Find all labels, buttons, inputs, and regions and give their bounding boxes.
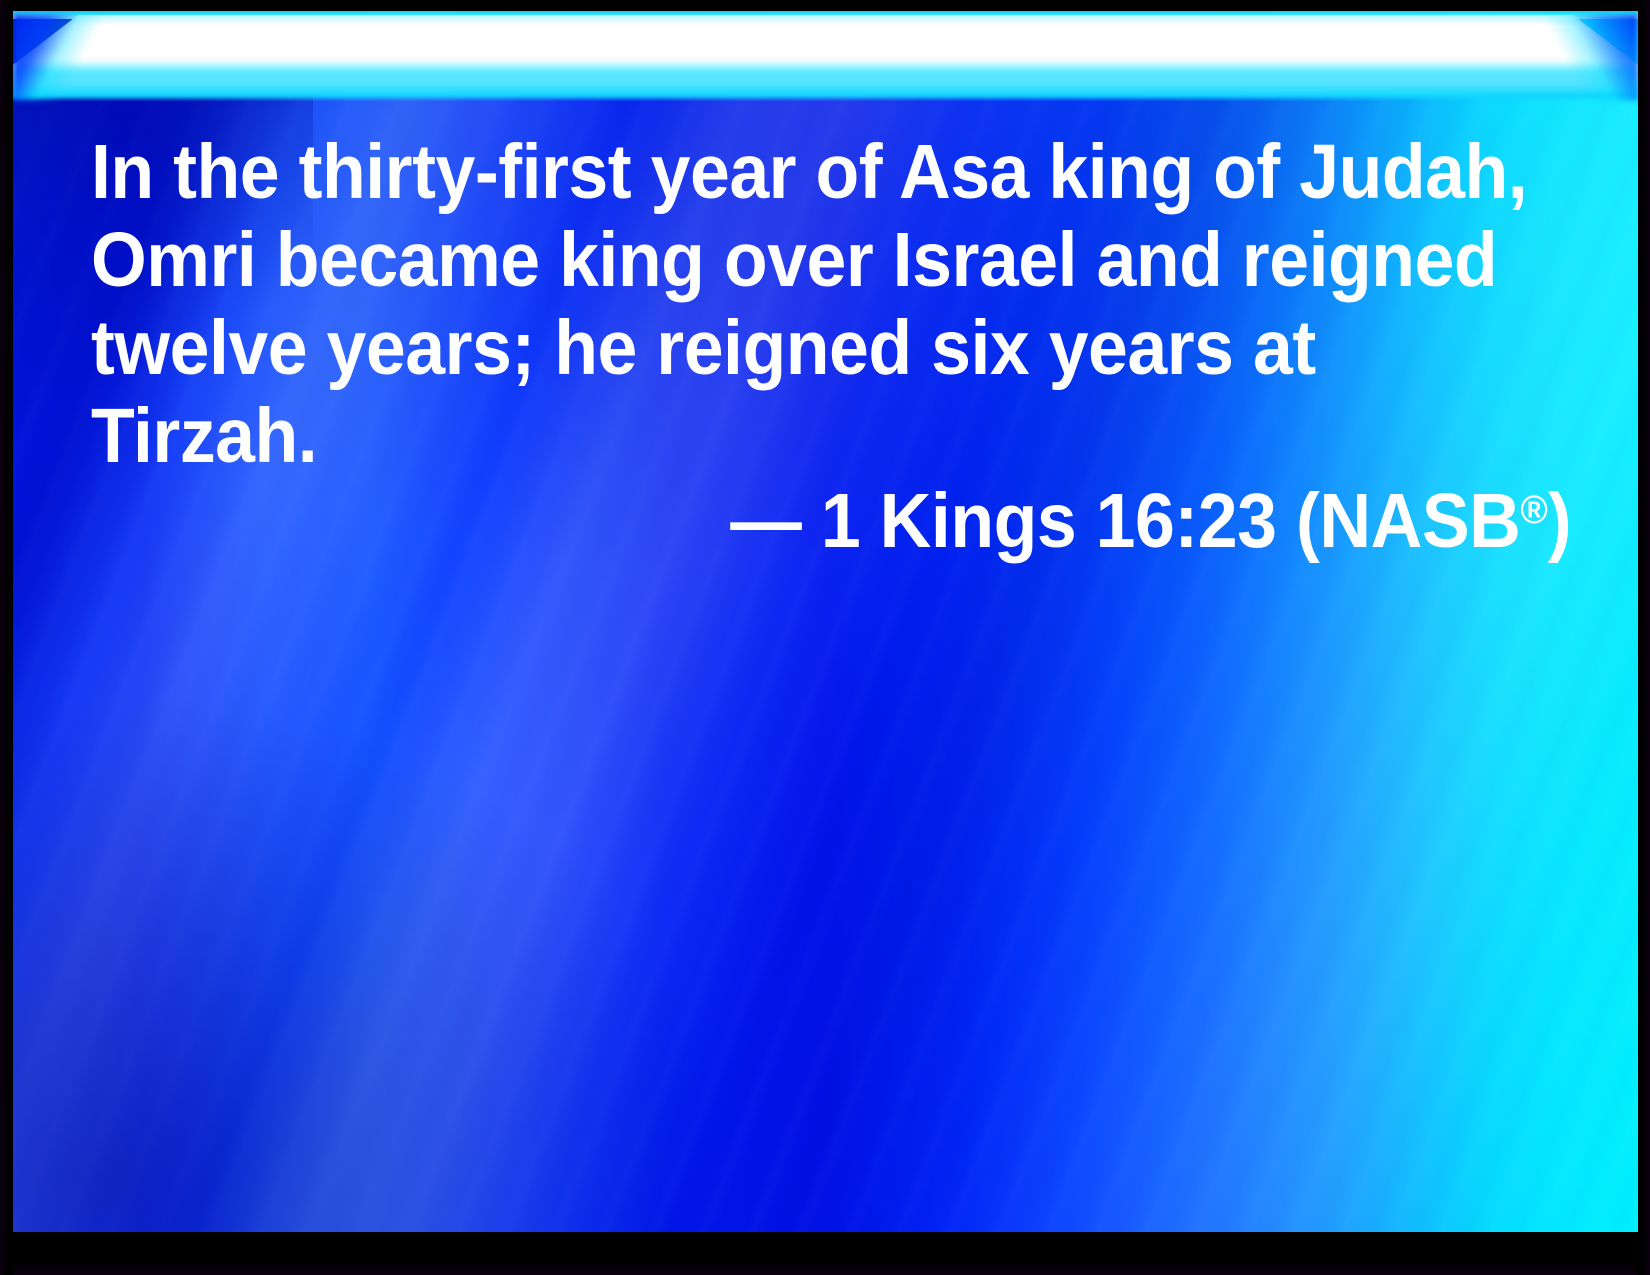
verse-line-2: Omri became king over Israel and reigned — [91, 216, 1467, 304]
glow-bar-right-taper — [1518, 15, 1638, 101]
verse-slide: In the thirty-first year of Asa king of … — [0, 0, 1650, 1275]
slide-canvas: In the thirty-first year of Asa king of … — [13, 11, 1638, 1232]
frame-border-right — [1638, 0, 1650, 1275]
verse-line-3: twelve years; he reigned six years at — [91, 304, 1467, 392]
verse-text-block: In the thirty-first year of Asa king of … — [91, 128, 1571, 480]
top-glow-bar — [13, 11, 1638, 103]
verse-citation: — 1 Kings 16:23 (NASB®) — [91, 466, 1571, 565]
glow-bar-underglow — [13, 67, 1638, 97]
frame-border-left — [0, 0, 13, 1275]
citation-suffix: ) — [1548, 478, 1571, 564]
citation-prefix: — 1 Kings 16:23 (NASB — [730, 478, 1520, 564]
frame-border-bottom — [0, 1232, 1650, 1275]
verse-line-1: In the thirty-first year of Asa king of … — [91, 128, 1467, 216]
verse-citation-inner: — 1 Kings 16:23 (NASB®) — [730, 466, 1571, 565]
registered-trademark-icon: ® — [1520, 488, 1547, 532]
glow-bar-left-taper — [13, 15, 133, 101]
frame-border-top — [0, 0, 1650, 11]
